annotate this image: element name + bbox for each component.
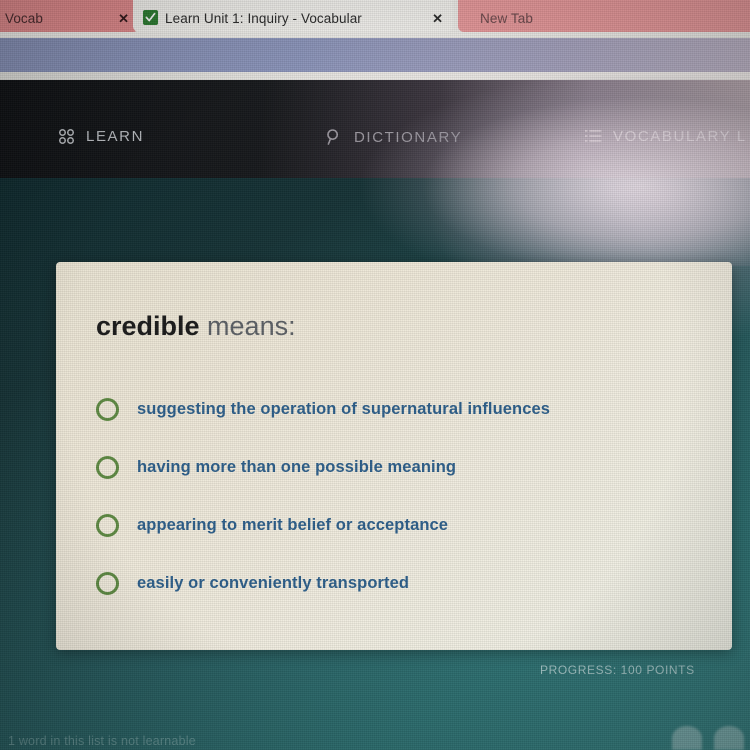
answer-choice-label: having more than one possible meaning — [137, 458, 456, 477]
browser-tab-title: Learn Unit 1: Inquiry - Vocabular — [165, 12, 426, 26]
question-card: credible means: suggesting the operation… — [56, 262, 732, 650]
answer-choices: suggesting the operation of supernatural… — [96, 380, 696, 612]
nav-item-label: VOCABULARY L — [613, 128, 747, 145]
radio-button-icon[interactable] — [96, 514, 119, 537]
list-icon — [585, 129, 602, 145]
grid-four-dots-icon — [58, 128, 75, 145]
question-prompt: credible means: — [96, 310, 296, 342]
close-icon[interactable]: ✕ — [118, 12, 129, 26]
answer-choice-label: suggesting the operation of supernatural… — [137, 400, 550, 419]
nav-item-dictionary[interactable]: DICTIONARY — [325, 128, 462, 146]
nav-item-label: LEARN — [86, 128, 144, 145]
nav-item-learn[interactable]: LEARN — [58, 128, 144, 145]
browser-tab-strip: ties : Vocab ✕ Learn Unit 1: Inquiry - V… — [0, 0, 750, 40]
nav-item-vocabulary-lists[interactable]: VOCABULARY L — [585, 128, 747, 145]
answer-choice[interactable]: having more than one possible meaning — [96, 438, 696, 496]
browser-tab-title: New Tab — [480, 12, 750, 26]
radio-button-icon[interactable] — [96, 398, 119, 421]
browser-tab-0[interactable]: ties : Vocab ✕ — [0, 0, 139, 32]
browser-toolbar — [0, 38, 750, 76]
footer-note: 1 word in this list is not learnable — [8, 734, 196, 748]
browser-tab-new-tab[interactable]: New Tab — [458, 0, 750, 32]
footer-decoration — [672, 726, 750, 750]
radio-button-icon[interactable] — [96, 572, 119, 595]
vocabulary-checkmark-icon — [143, 10, 158, 25]
radio-button-icon[interactable] — [96, 456, 119, 479]
prompt-word: credible — [96, 311, 200, 341]
nav-item-label: DICTIONARY — [354, 129, 462, 146]
answer-choice[interactable]: easily or conveniently transported — [96, 554, 696, 612]
progress-label: PROGRESS: 100 POINTS — [540, 663, 695, 677]
prompt-suffix: means: — [200, 311, 296, 341]
search-icon — [325, 128, 343, 146]
answer-choice-label: easily or conveniently transported — [137, 574, 409, 593]
answer-choice-label: appearing to merit belief or acceptance — [137, 516, 448, 535]
answer-choice[interactable]: appearing to merit belief or acceptance — [96, 496, 696, 554]
browser-tab-title: ties : Vocab — [0, 12, 112, 26]
answer-choice[interactable]: suggesting the operation of supernatural… — [96, 380, 696, 438]
browser-tab-1[interactable]: Learn Unit 1: Inquiry - Vocabular ✕ — [133, 0, 453, 32]
close-icon[interactable]: ✕ — [432, 12, 443, 26]
